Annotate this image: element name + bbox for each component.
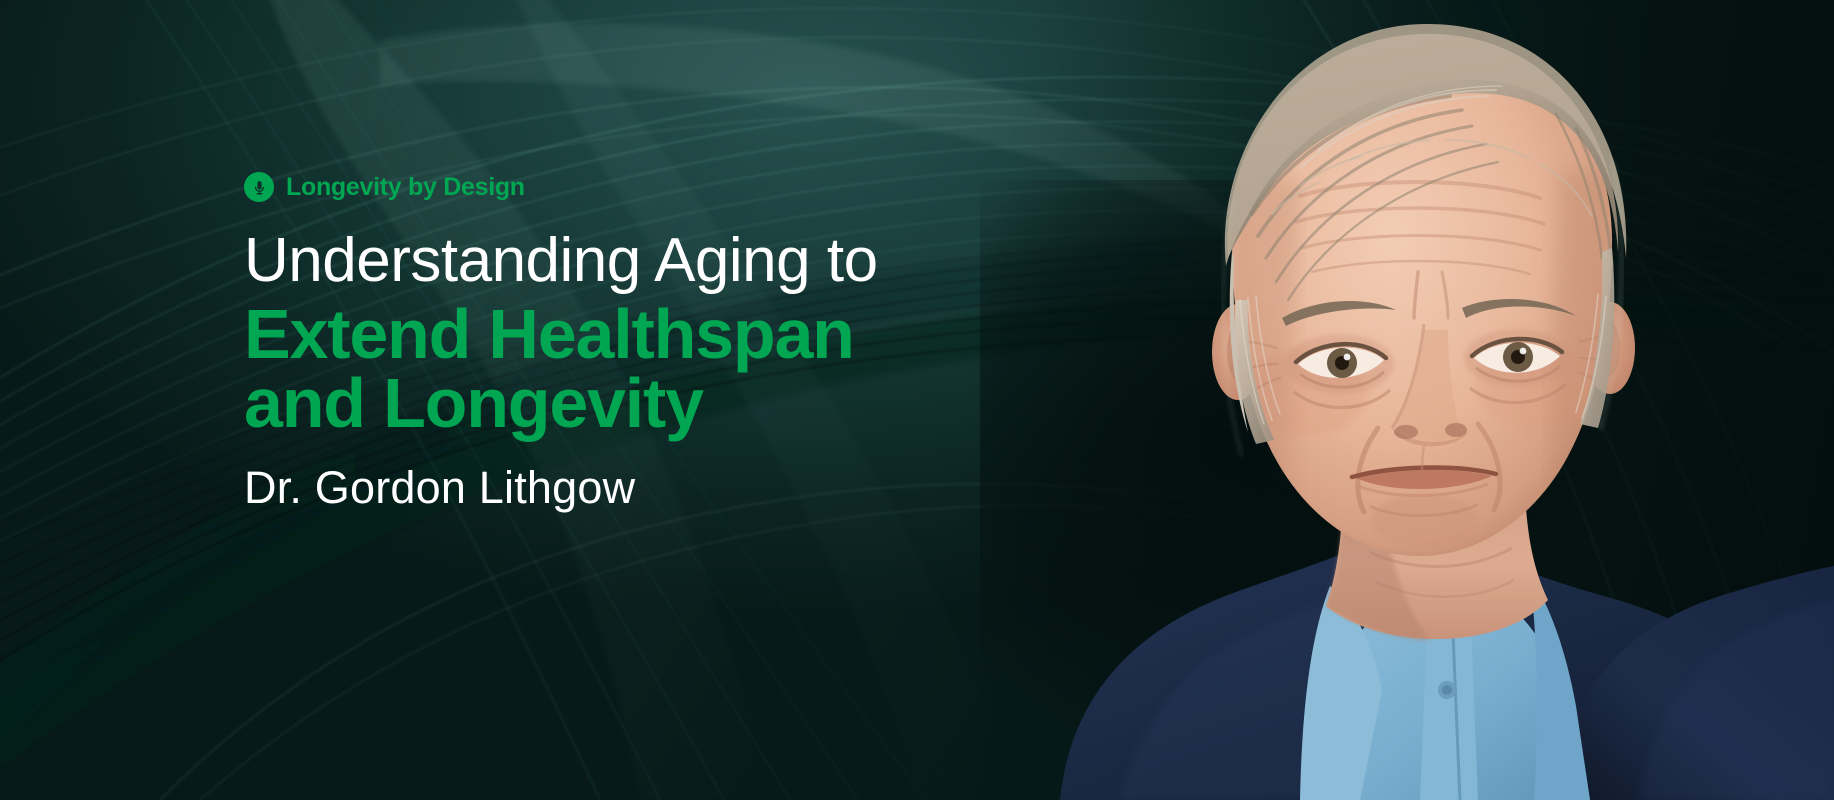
podcast-brand: Longevity by Design [244,172,525,202]
speaker-name: Dr. Gordon Lithgow [244,462,635,514]
podcast-episode-banner: Longevity by Design Understanding Aging … [0,0,1834,800]
episode-title-line-1: Understanding Aging to [244,228,878,293]
episode-title-highlight-line-1: Extend Healthspan [244,300,1004,369]
microphone-icon [244,172,274,202]
episode-title-highlight: Extend Healthspan and Longevity [244,300,1004,437]
episode-title-highlight-line-2: and Longevity [244,369,1004,438]
podcast-brand-label: Longevity by Design [286,173,525,202]
banner-text-content: Longevity by Design Understanding Aging … [244,0,1024,800]
speaker-portrait [1000,0,1834,800]
